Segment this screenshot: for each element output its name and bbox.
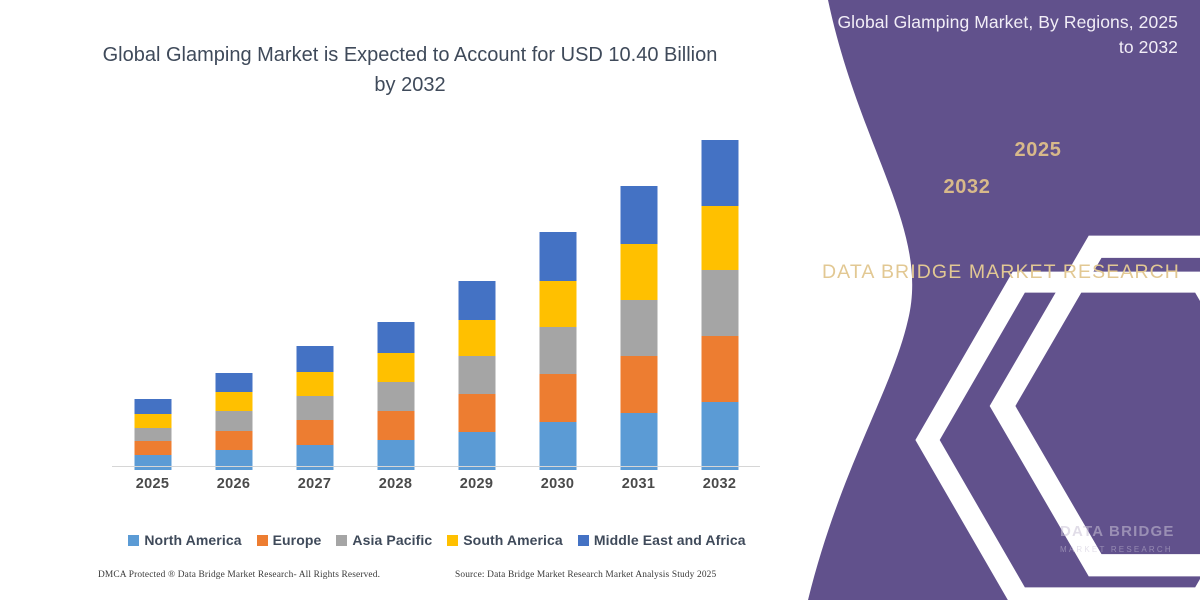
legend-label: Asia Pacific — [352, 532, 432, 548]
bar-segment — [215, 411, 252, 430]
bar-slot — [517, 140, 598, 470]
bar-segment — [134, 441, 171, 455]
x-axis-label-2028: 2028 — [355, 476, 436, 492]
legend-item[interactable]: Middle East and Africa — [578, 532, 746, 548]
stacked-bar[interactable] — [134, 399, 171, 470]
stacked-bar[interactable] — [620, 186, 657, 470]
bar-segment — [215, 431, 252, 450]
logo-text-main: DATA BRIDGE — [1060, 524, 1192, 541]
bar-segment — [701, 402, 738, 470]
bar-segment — [620, 300, 657, 356]
bar-segment — [701, 336, 738, 402]
copyright-notice: DMCA Protected ® Data Bridge Market Rese… — [98, 570, 380, 580]
legend-label: South America — [463, 532, 563, 548]
stacked-bar[interactable] — [539, 232, 576, 470]
bar-slot — [193, 140, 274, 470]
legend-item[interactable]: Europe — [257, 532, 322, 548]
bar-segment — [134, 455, 171, 470]
bar-segment — [458, 320, 495, 357]
bar-segment — [701, 206, 738, 271]
bar-segment — [701, 140, 738, 206]
bar-slot — [274, 140, 355, 470]
logo-text-sub: MARKET RESEARCH — [1060, 545, 1192, 554]
bar-segment — [215, 392, 252, 411]
stacked-bar[interactable] — [296, 346, 333, 470]
legend-swatch-icon — [578, 535, 589, 546]
panel-content: Global Glamping Market, By Regions, 2025… — [800, 0, 1200, 600]
legend-item[interactable]: South America — [447, 532, 563, 548]
legend-swatch-icon — [128, 535, 139, 546]
legend-label: North America — [144, 532, 241, 548]
source-notice: Source: Data Bridge Market Research Mark… — [455, 570, 716, 580]
brand-name: DATA BRIDGE MARKET RESEARCH — [820, 258, 1182, 286]
bar-segment — [701, 270, 738, 336]
infographic-page: Global Glamping Market is Expected to Ac… — [0, 0, 1200, 600]
legend-label: Middle East and Africa — [594, 532, 746, 548]
page-title: Global Glamping Market is Expected to Ac… — [90, 40, 730, 100]
bar-segment — [539, 327, 576, 374]
bar-segment — [215, 450, 252, 470]
bar-slot — [436, 140, 517, 470]
company-logo: DATA BRIDGE MARKET RESEARCH — [982, 512, 1192, 574]
panel-title: Global Glamping Market, By Regions, 2025… — [818, 10, 1178, 60]
bar-slot — [112, 140, 193, 470]
bar-segment — [134, 399, 171, 414]
bar-segment — [539, 232, 576, 281]
legend-item[interactable]: North America — [128, 532, 241, 548]
x-axis-label-2029: 2029 — [436, 476, 517, 492]
bar-segment — [620, 186, 657, 244]
brand-panel: Global Glamping Market, By Regions, 2025… — [800, 0, 1200, 600]
bar-segment — [215, 373, 252, 393]
bar-segment — [620, 244, 657, 299]
x-axis-label-2030: 2030 — [517, 476, 598, 492]
bar-segment — [296, 372, 333, 396]
bar-slot — [598, 140, 679, 470]
x-axis-label-2026: 2026 — [193, 476, 274, 492]
hexagon-badges: 2032 2025 — [910, 106, 1100, 236]
bar-segment — [458, 432, 495, 470]
bar-segment — [458, 394, 495, 432]
bar-segment — [296, 420, 333, 445]
hexagon-badge-front: 2025 — [984, 106, 1092, 202]
x-axis-label-2031: 2031 — [598, 476, 679, 492]
stacked-bar[interactable] — [701, 140, 738, 470]
legend-swatch-icon — [336, 535, 347, 546]
bar-segment — [458, 281, 495, 320]
bar-segment — [134, 428, 171, 442]
chart-area: Global Glamping Market is Expected to Ac… — [0, 0, 810, 600]
bar-slot — [355, 140, 436, 470]
stacked-bar-chart — [112, 140, 760, 470]
stacked-bar[interactable] — [377, 322, 414, 470]
legend-item[interactable]: Asia Pacific — [336, 532, 432, 548]
bar-slot — [679, 140, 760, 470]
legend-label: Europe — [273, 532, 322, 548]
chart-legend: North AmericaEuropeAsia PacificSouth Ame… — [112, 532, 762, 548]
legend-swatch-icon — [257, 535, 268, 546]
axis-baseline — [112, 466, 760, 467]
bar-segment — [539, 281, 576, 327]
bar-segment — [539, 422, 576, 470]
bar-segment — [377, 411, 414, 441]
bar-segment — [377, 353, 414, 382]
bar-segment — [134, 414, 171, 428]
bar-segment — [539, 374, 576, 422]
x-axis-label-2025: 2025 — [112, 476, 193, 492]
bar-segment — [377, 322, 414, 352]
bar-segment — [620, 413, 657, 470]
bar-segment — [620, 356, 657, 413]
bar-segment — [296, 396, 333, 420]
bar-segment — [296, 346, 333, 371]
logo-text: DATA BRIDGE MARKET RESEARCH — [1060, 524, 1192, 554]
stacked-bar[interactable] — [458, 281, 495, 470]
bar-segment — [458, 356, 495, 393]
hexagon-front-label: 2025 — [984, 139, 1092, 162]
legend-swatch-icon — [447, 535, 458, 546]
x-axis-label-2032: 2032 — [679, 476, 760, 492]
bar-segment — [377, 382, 414, 411]
stacked-bar[interactable] — [215, 373, 252, 470]
x-axis-label-2027: 2027 — [274, 476, 355, 492]
